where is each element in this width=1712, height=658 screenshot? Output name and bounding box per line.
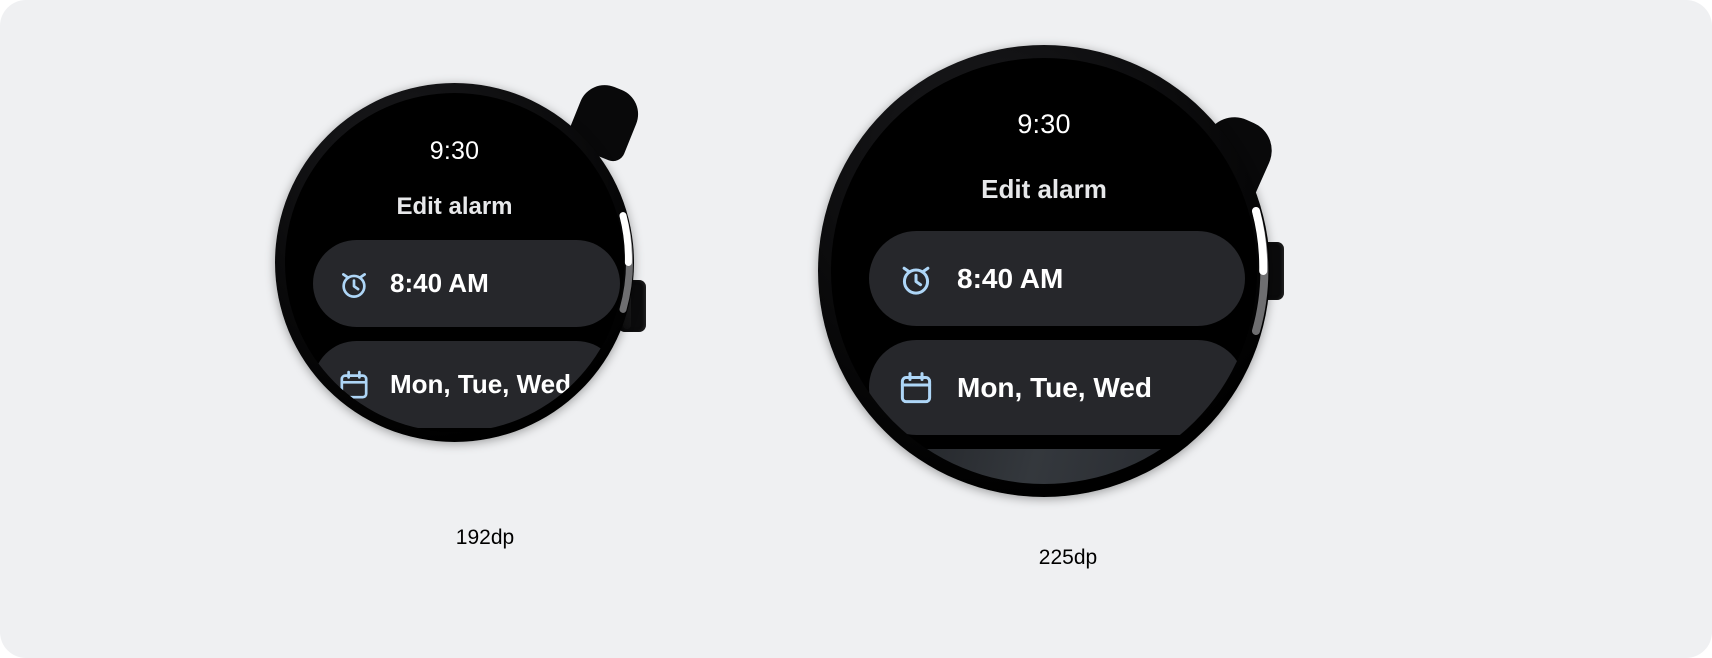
list-item-repeat-days-192dp[interactable]: Mon, Tue, Wed [313,341,620,428]
repeat-days-label: Mon, Tue, Wed [957,372,1152,404]
status-time-225dp: 9:30 [831,109,1257,140]
caption-225dp: 225dp [818,546,1318,570]
calendar-icon [337,368,371,402]
screen-title-225dp: Edit alarm [831,174,1257,205]
alarm-time-label: 8:40 AM [390,268,489,299]
sound-label: Sound [957,481,1044,485]
list-item-alarm-time-192dp[interactable]: 8:40 AM [313,240,620,327]
repeat-days-label: Mon, Tue, Wed [390,369,571,400]
caption-192dp: 192dp [275,526,695,550]
screenshot-canvas: 9:30 Edit alarm 8:40 AM [0,0,1712,658]
watch-screen-192dp: 9:30 Edit alarm 8:40 AM [285,93,624,432]
list-item-sound-225dp[interactable]: Sound [869,449,1245,484]
alarm-clock-icon [337,267,371,301]
alarm-time-label: 8:40 AM [957,263,1063,295]
watch-screen-225dp: 9:30 Edit alarm 8:40 AM [831,58,1257,484]
status-time-192dp: 9:30 [285,137,624,166]
watch-mockup-225dp: 9:30 Edit alarm 8:40 AM [818,22,1318,522]
list-item-alarm-time-225dp[interactable]: 8:40 AM [869,231,1245,326]
alarm-clock-icon [897,260,935,298]
list-item-repeat-days-225dp[interactable]: Mon, Tue, Wed [869,340,1245,435]
watch-mockup-192dp: 9:30 Edit alarm 8:40 AM [275,62,695,482]
calendar-icon [897,369,935,407]
screen-title-192dp: Edit alarm [285,193,624,221]
